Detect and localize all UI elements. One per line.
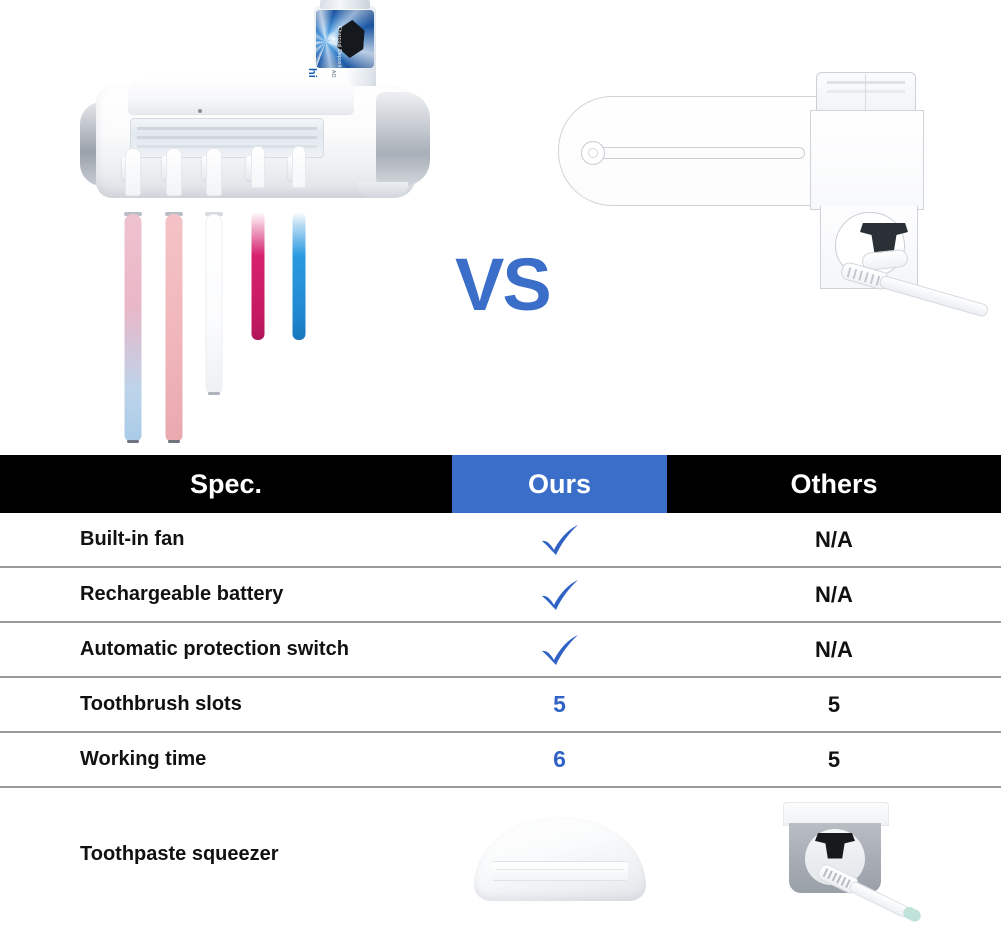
toothbrush-2 xyxy=(163,148,185,446)
row-label-cell: Built-in fan xyxy=(0,513,452,566)
row-ours-cell: 6 xyxy=(452,733,667,786)
toothbrush-1 xyxy=(122,148,144,446)
row-ours-cell: 5 xyxy=(452,678,667,731)
dispenser-gripper xyxy=(815,833,855,859)
row-others-cell: 5 xyxy=(667,678,1001,731)
table-row: Automatic protection switch N/A xyxy=(0,623,1001,678)
checkmark-icon xyxy=(538,523,582,557)
dispenser-gripper xyxy=(860,223,908,253)
squeezer-body xyxy=(474,817,646,901)
header-label-others: Others xyxy=(790,469,877,500)
dispenser-top-divider xyxy=(865,74,866,110)
uv-indicator-dot xyxy=(198,109,202,113)
row-label: Working time xyxy=(80,748,206,771)
row-others-cell: N/A xyxy=(667,568,1001,621)
tube-cap xyxy=(320,0,370,9)
row-label-cell: Toothpaste squeezer xyxy=(0,843,452,866)
header-label-spec: Spec. xyxy=(190,469,262,500)
row-others-value: N/A xyxy=(815,527,853,553)
row-label: Toothbrush slots xyxy=(80,693,242,716)
toothbrush-handle xyxy=(166,214,183,442)
header-cell-ours: Ours xyxy=(452,455,667,513)
row-label: Rechargeable battery xyxy=(80,583,283,606)
header-cell-others: Others xyxy=(667,455,1001,513)
dispenser-housing xyxy=(810,110,924,210)
toothbrush-head xyxy=(166,148,182,196)
table-row: Rechargeable battery N/A xyxy=(0,568,1001,623)
product-image-ours: Charcoal Deposit hite Glo ADVANCED SERIE… xyxy=(70,0,440,450)
row-others-value: 5 xyxy=(828,692,840,718)
table-row: Working time 6 5 xyxy=(0,733,1001,788)
product-image-others xyxy=(548,70,988,360)
dispenser-arm-knob xyxy=(581,141,605,165)
toothbrush-handle xyxy=(878,274,989,317)
spec-comparison-table: Spec. Ours Others Built-in fan N/A Recha… xyxy=(0,455,1001,921)
dispenser-arm-slot xyxy=(587,147,805,159)
row-others-value: N/A xyxy=(815,637,853,663)
row-others-cell: 5 xyxy=(667,733,1001,786)
table-header-row: Spec. Ours Others xyxy=(0,455,1001,513)
table-row-toothpaste-squeezer: Toothpaste squeezer xyxy=(0,788,1001,921)
toothbrush-tip xyxy=(127,440,139,443)
toothbrush-5 xyxy=(289,146,309,326)
checkmark-icon xyxy=(538,633,582,667)
row-ours-cell xyxy=(452,513,667,566)
row-label-cell: Rechargeable battery xyxy=(0,568,452,621)
product-comparison-hero: Charcoal Deposit hite Glo ADVANCED SERIE… xyxy=(0,0,1001,455)
toothbrush-bristles xyxy=(823,868,829,877)
dispenser-top xyxy=(783,802,889,826)
row-label-cell: Working time xyxy=(0,733,452,786)
toothbrush-head xyxy=(292,146,306,188)
row-label: Automatic protection switch xyxy=(80,638,349,661)
row-label-cell: Automatic protection switch xyxy=(0,623,452,676)
row-label: Built-in fan xyxy=(80,528,184,551)
vs-label: VS xyxy=(455,248,550,322)
header-cell-spec: Spec. xyxy=(0,455,452,513)
header-label-ours: Ours xyxy=(528,469,591,500)
squeezer-roller-slot xyxy=(492,861,628,881)
checkmark-icon xyxy=(538,578,582,612)
toothbrush-3 xyxy=(203,148,225,398)
toothbrush-4 xyxy=(248,146,268,326)
row-others-cell: N/A xyxy=(667,623,1001,676)
toothbrush-head xyxy=(251,146,265,188)
row-others-cell: N/A xyxy=(667,513,1001,566)
table-row: Toothbrush slots 5 5 xyxy=(0,678,1001,733)
row-label-cell: Toothbrush slots xyxy=(0,678,452,731)
toothbrush-bristles xyxy=(847,267,852,277)
row-ours-cell xyxy=(452,809,667,901)
manual-squeezer-image xyxy=(474,809,646,901)
toothbrush-handle xyxy=(252,212,265,340)
toothbrush-handle xyxy=(125,214,142,442)
toothbrush-handle xyxy=(206,214,223,394)
toothbrush-tip xyxy=(208,392,220,395)
row-others-value: 5 xyxy=(828,747,840,773)
row-ours-value: 6 xyxy=(553,746,566,773)
toothbrush-tip xyxy=(168,440,180,443)
toothbrush-head xyxy=(125,148,141,196)
row-others-cell xyxy=(667,802,1001,908)
uv-lid xyxy=(128,78,354,115)
table-row: Built-in fan N/A xyxy=(0,513,1001,568)
toothbrush-handle xyxy=(848,879,911,918)
row-others-value: N/A xyxy=(815,582,853,608)
toothbrush-grip xyxy=(901,904,922,923)
row-ours-value: 5 xyxy=(553,691,566,718)
wall-dispenser-image xyxy=(769,802,899,908)
toothbrush-head xyxy=(206,148,222,196)
toothbrush xyxy=(815,861,922,925)
uv-foot xyxy=(358,182,408,198)
toothbrush-handle xyxy=(293,212,306,340)
dispenser-body xyxy=(789,823,881,893)
row-label: Toothpaste squeezer xyxy=(80,843,279,866)
dispenser-arm xyxy=(558,96,820,206)
row-ours-cell xyxy=(452,568,667,621)
uv-cap-right xyxy=(376,92,430,186)
row-ours-cell xyxy=(452,623,667,676)
tube-variant-label: Charcoal Deposit xyxy=(336,26,342,66)
